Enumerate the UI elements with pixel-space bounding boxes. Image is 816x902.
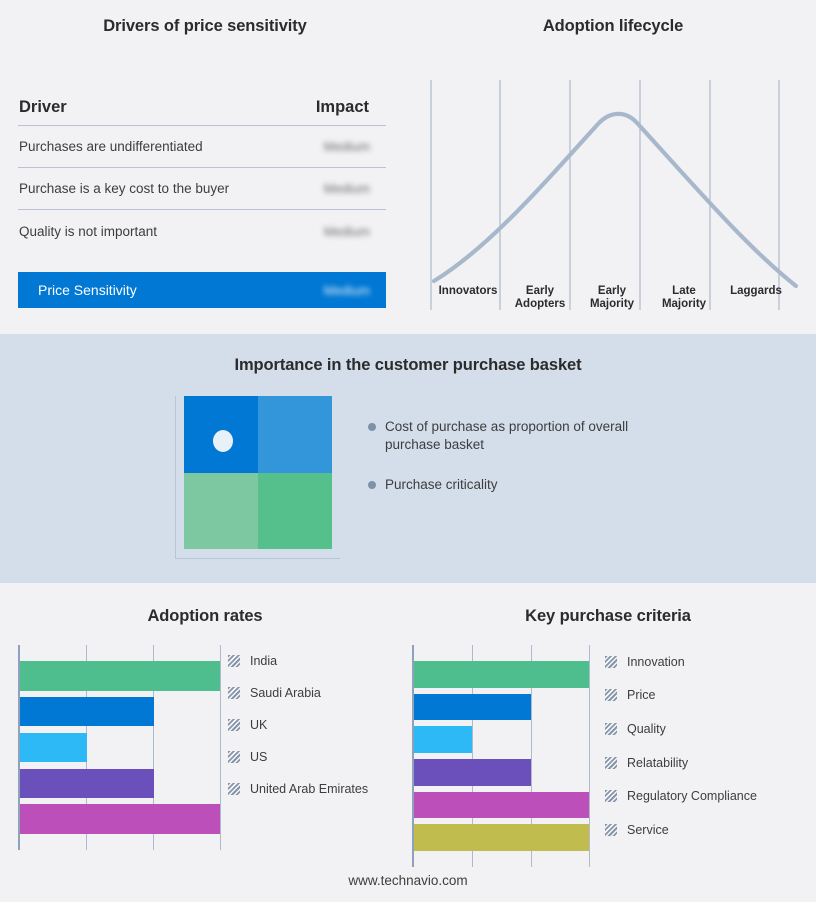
legend-label: Relatability [627,756,688,770]
legend-item: Saudi Arabia [228,677,403,709]
column-header-impact: Impact [316,98,386,117]
quadrant-chart [175,396,343,564]
lifecycle-stage-labels: Innovators Early Adopters Early Majority… [432,285,792,311]
legend-label: India [250,654,277,668]
bullet-icon [368,481,376,489]
bar-slot-service [414,821,590,854]
legend-item: Innovation [605,645,815,679]
bar-saudi-arabia [20,697,154,726]
adoption-rates-panel: Adoption rates [0,583,410,873]
key-purchase-criteria-chart [412,645,590,867]
legend-label: Price [627,688,655,702]
adoption-bars [20,658,221,837]
key-purchase-criteria-panel: Key purchase criteria [400,583,816,873]
lifecycle-curve-svg [430,80,802,310]
legend-item: UK [228,709,403,741]
bar-slot-quality [414,723,590,756]
stage-line-1: Laggards [720,285,792,298]
quadrant-position-marker [213,430,233,452]
bar-us [20,769,154,798]
key-purchase-criteria-title: Key purchase criteria [400,607,816,626]
lifecycle-panel: Adoption lifecycle Innovators [410,0,816,334]
legend-label: UK [250,718,267,732]
legend-item: United Arab Emirates [228,773,403,805]
impact-value: Medium [324,139,386,154]
hatched-swatch-icon [605,790,617,802]
hatched-swatch-icon [605,656,617,668]
hatched-swatch-icon [228,751,240,763]
hatched-swatch-icon [605,757,617,769]
driver-label: Purchases are undifferentiated [18,139,203,154]
table-row: Purchases are undifferentiated Medium [18,126,386,168]
legend-label: Quality [627,722,666,736]
hatched-swatch-icon [228,783,240,795]
quadrant-bottom-right [258,473,332,550]
infographic-page: Drivers of price sensitivity Driver Impa… [0,0,816,902]
adoption-rates-title: Adoption rates [0,607,410,626]
legend-item: Price [605,679,815,713]
footer-url: www.technavio.com [0,873,816,888]
drivers-panel: Drivers of price sensitivity Driver Impa… [0,0,410,334]
bar-slot-uae [20,801,221,837]
stage-line-2: Adopters [504,298,576,311]
legend-item: Service [605,813,815,847]
lifecycle-stage-late-majority: Late Majority [648,285,720,311]
legend-label: US [250,750,267,764]
table-row: Quality is not important Medium [18,210,386,252]
bullet-icon [368,423,376,431]
adoption-rates-legend: India Saudi Arabia UK US United Arab Emi… [228,645,403,805]
legend-item: Quality [605,712,815,746]
purchase-basket-title: Importance in the customer purchase bask… [0,356,816,375]
legend-item: US [228,741,403,773]
hatched-swatch-icon [605,689,617,701]
purchase-basket-panel: Importance in the customer purchase bask… [0,334,816,583]
bar-india [20,661,220,690]
hatched-swatch-icon [228,719,240,731]
bar-regulatory-compliance [414,792,589,819]
bar-innovation [414,661,589,688]
legend-item: Cost of purchase as proportion of overal… [368,418,668,454]
table-row: Purchase is a key cost to the buyer Medi… [18,168,386,210]
legend-item: India [228,645,403,677]
bar-quality [414,726,472,753]
drivers-table-header: Driver Impact [18,90,386,126]
stage-line-1: Innovators [432,285,504,298]
stage-line-1: Late [648,285,720,298]
hatched-swatch-icon [228,655,240,667]
bar-price [414,694,531,721]
driver-label: Purchase is a key cost to the buyer [18,181,229,196]
legend-label: Cost of purchase as proportion of overal… [385,418,637,454]
lifecycle-stage-innovators: Innovators [432,285,504,311]
hatched-swatch-icon [605,824,617,836]
bar-slot-regulatory-compliance [414,789,590,822]
legend-label: Saudi Arabia [250,686,321,700]
bar-relatability [414,759,531,786]
price-sensitivity-label: Price Sensitivity [38,282,137,298]
legend-label: Service [627,823,669,837]
bar-slot-innovation [414,658,590,691]
key-purchase-criteria-legend: Innovation Price Quality Relatability Re… [605,645,815,847]
adoption-bell-curve [434,114,796,286]
legend-label: Purchase criticality [385,476,498,494]
legend-label: Innovation [627,655,685,669]
stage-line-1: Early [504,285,576,298]
hatched-swatch-icon [605,723,617,735]
drivers-panel-title: Drivers of price sensitivity [0,17,410,36]
bar-slot-relatability [414,756,590,789]
quadrant-top-left [184,396,258,473]
stage-line-2: Majority [648,298,720,311]
lifecycle-chart [430,80,802,310]
stage-line-1: Early [576,285,648,298]
driver-label: Quality is not important [18,224,157,239]
legend-item: Regulatory Compliance [605,779,815,813]
bar-slot-uk [20,730,221,766]
legend-item: Purchase criticality [368,476,668,494]
stage-line-2: Majority [576,298,648,311]
price-sensitivity-impact: Medium [324,283,370,298]
quadrant-grid [184,396,332,549]
bar-slot-india [20,658,221,694]
impact-value: Medium [324,181,386,196]
legend-label: Regulatory Compliance [627,789,757,803]
lifecycle-stage-early-majority: Early Majority [576,285,648,311]
purchase-basket-legend: Cost of purchase as proportion of overal… [368,418,668,516]
impact-value: Medium [324,224,386,239]
bar-slot-saudi-arabia [20,694,221,730]
lifecycle-stage-early-adopters: Early Adopters [504,285,576,311]
quadrant-top-right [258,396,332,473]
bar-united-arab-emirates [20,804,220,833]
adoption-rates-chart [18,645,221,850]
bar-slot-us [20,765,221,801]
bar-uk [20,733,87,762]
lifecycle-panel-title: Adoption lifecycle [410,17,816,36]
lifecycle-gridlines [431,80,779,310]
bar-service [414,824,589,851]
criteria-bars [414,658,590,854]
bar-slot-price [414,691,590,724]
legend-label: United Arab Emirates [250,782,368,796]
drivers-table: Driver Impact Purchases are undifferenti… [18,90,386,252]
lifecycle-stage-laggards: Laggards [720,285,792,311]
legend-item: Relatability [605,746,815,780]
quadrant-bottom-left [184,473,258,550]
price-sensitivity-summary-row: Price Sensitivity Medium [18,272,386,308]
hatched-swatch-icon [228,687,240,699]
column-header-driver: Driver [18,98,67,117]
